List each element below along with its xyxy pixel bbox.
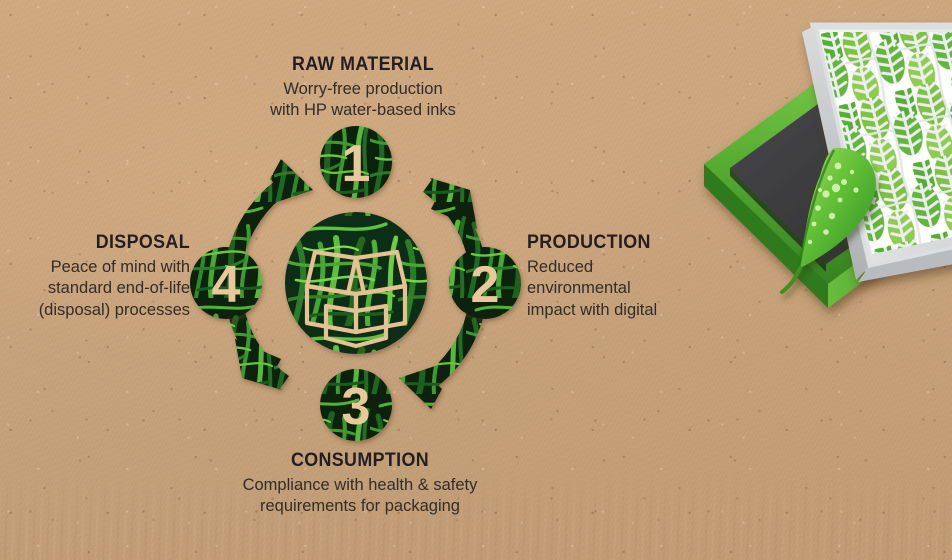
- step-badge-2-number: 2: [471, 256, 500, 314]
- lifecycle-diagram: 1 2 3 4: [178, 106, 534, 462]
- step-badge-4[interactable]: 4: [190, 247, 262, 319]
- step-body-disposal: Peace of mind with standard end-of-life …: [0, 257, 190, 321]
- arrow-3-to-4: [235, 315, 284, 390]
- infographic-canvas: RAW MATERIAL Worry-free production with …: [0, 0, 952, 560]
- step-badge-3-number: 3: [342, 378, 371, 436]
- center-grass-disc: [285, 212, 427, 354]
- step-body-consumption: Compliance with health & safety requirem…: [210, 475, 510, 518]
- step-badge-4-number: 4: [212, 256, 241, 314]
- arrow-1-to-2: [428, 178, 477, 253]
- step-badge-1[interactable]: 1: [320, 126, 392, 198]
- packaging-box-photo: [668, 72, 952, 362]
- step-badge-1-number: 1: [342, 135, 371, 193]
- step-heading-raw-material: RAW MATERIAL: [236, 54, 490, 76]
- arrow-2-to-3: [399, 315, 475, 409]
- step-badge-2[interactable]: 2: [449, 247, 521, 319]
- step-label-disposal: DISPOSAL Peace of mind with standard end…: [0, 232, 190, 321]
- step-badge-3[interactable]: 3: [320, 369, 392, 441]
- step-heading-disposal: DISPOSAL: [11, 232, 190, 254]
